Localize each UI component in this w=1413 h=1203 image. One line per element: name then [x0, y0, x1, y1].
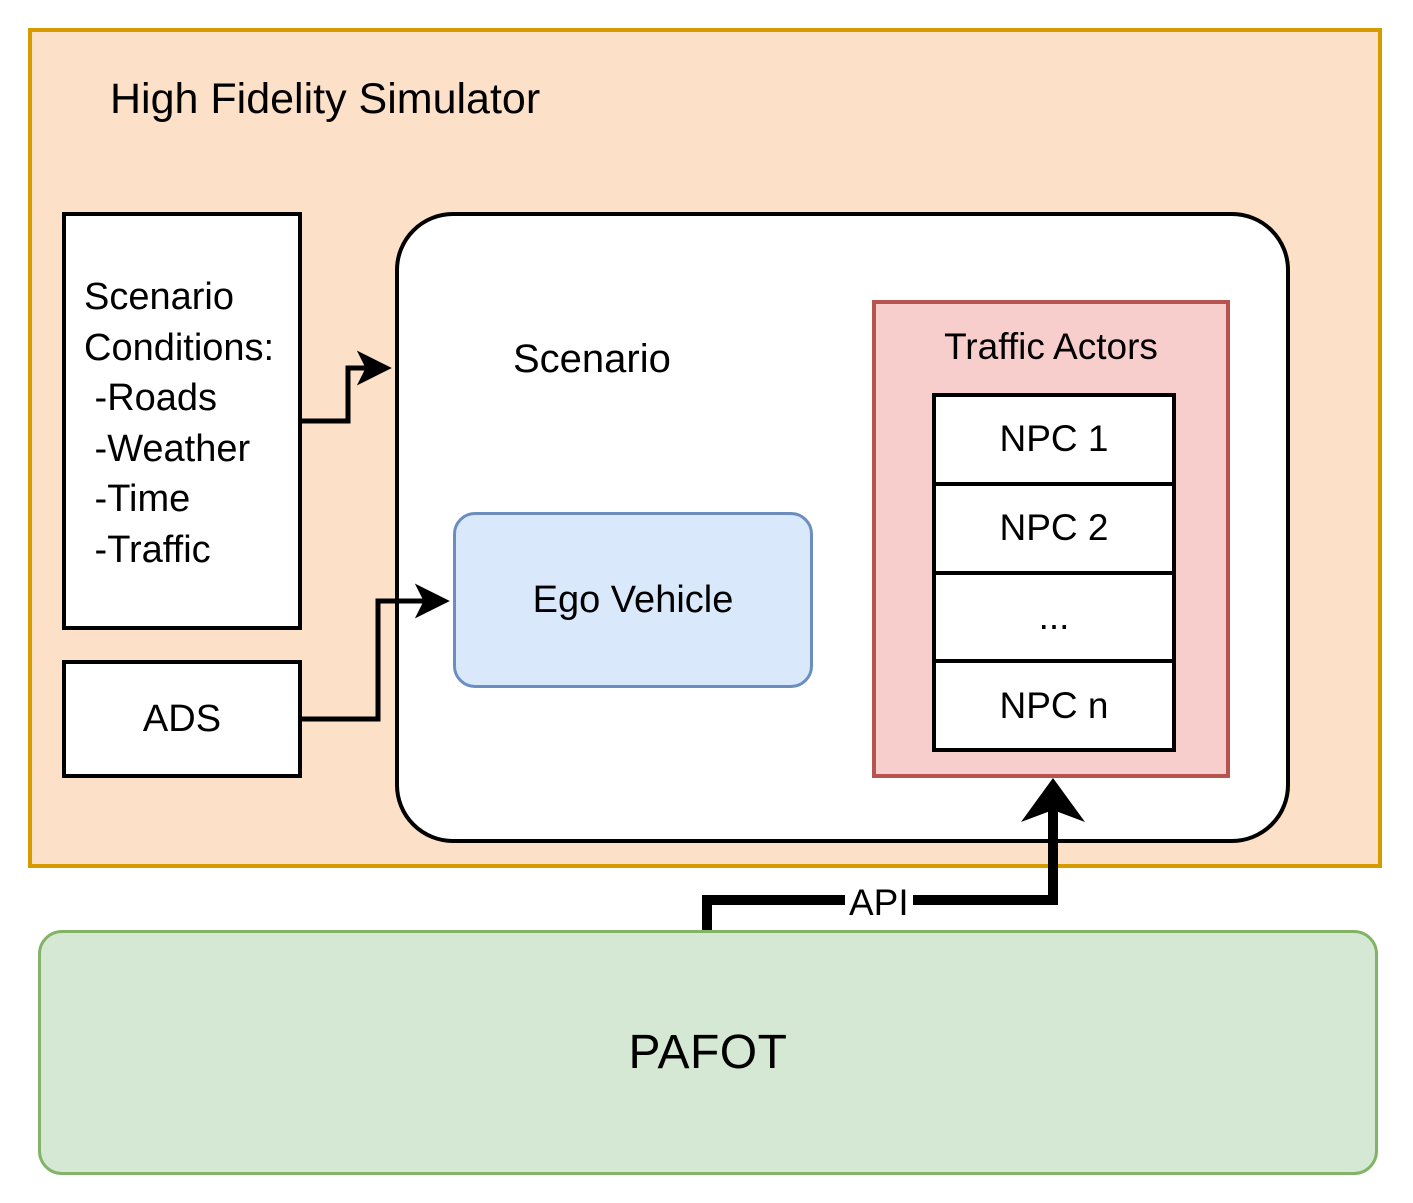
- scenario-condition-item-traffic: -Traffic: [84, 525, 298, 576]
- scenario-condition-item-roads: -Roads: [84, 373, 298, 424]
- scenario-conditions-heading-line-2: Conditions:: [84, 323, 298, 374]
- ads-box: ADS: [62, 660, 302, 778]
- npc-list: NPC 1 NPC 2 ... NPC n: [932, 393, 1176, 752]
- traffic-actors-title: Traffic Actors: [876, 326, 1226, 368]
- scenario-conditions-heading-line-1: Scenario: [84, 272, 298, 323]
- ego-vehicle-box: Ego Vehicle: [453, 512, 813, 688]
- api-label: API: [845, 882, 913, 924]
- npc-row: ...: [936, 575, 1172, 664]
- pafot-box: PAFOT: [38, 930, 1378, 1175]
- npc-row: NPC 1: [936, 397, 1172, 486]
- scenario-label: Scenario: [513, 337, 671, 382]
- simulator-title: High Fidelity Simulator: [110, 78, 540, 121]
- scenario-condition-item-time: -Time: [84, 474, 298, 525]
- scenario-conditions-box: Scenario Conditions: -Roads -Weather -Ti…: [62, 212, 302, 630]
- diagram-canvas: High Fidelity Simulator Scenario Conditi…: [0, 0, 1413, 1203]
- npc-row: NPC n: [936, 663, 1172, 748]
- scenario-condition-item-weather: -Weather: [84, 424, 298, 475]
- pafot-label: PAFOT: [629, 1025, 788, 1080]
- traffic-actors-box: Traffic Actors NPC 1 NPC 2 ... NPC n: [872, 300, 1230, 778]
- npc-row: NPC 2: [936, 486, 1172, 575]
